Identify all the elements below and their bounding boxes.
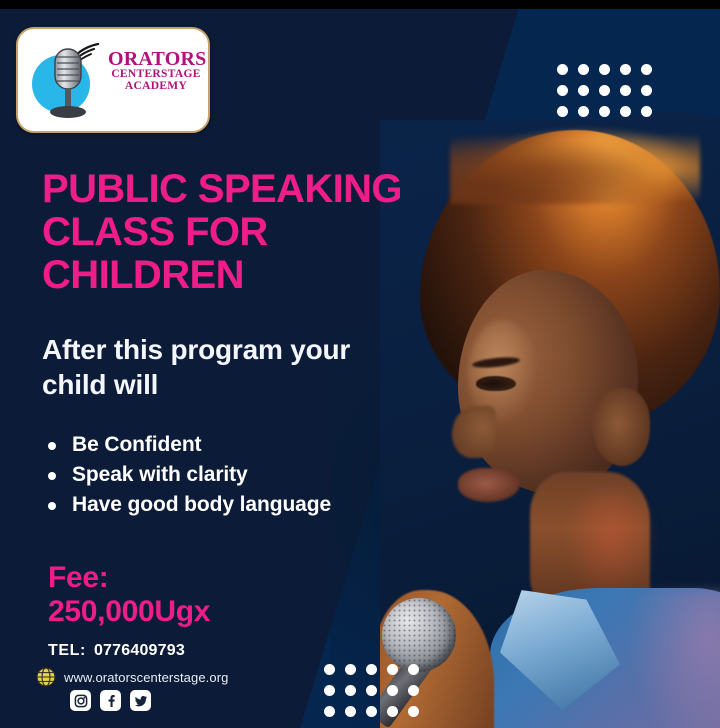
brand-logo-card[interactable]: ORATORS CENTERSTAGE ACADEMY [16,27,210,133]
headline-line-1: PUBLIC SPEAKING [42,168,442,211]
telephone-number[interactable]: 0776409793 [94,642,185,659]
retro-microphone-icon [28,35,106,125]
poster-canvas: ORATORS CENTERSTAGE ACADEMY PUBLIC SPEAK… [0,0,720,728]
brand-name-line1: ORATORS [108,49,204,69]
telephone-label: TEL: [48,642,86,659]
headline-line-2: CLASS FOR [42,211,442,254]
subheading-line-2: child will [42,368,442,403]
twitter-icon[interactable] [130,690,151,711]
subheading-line-1: After this program your [42,333,442,368]
benefits-list: Be Confident Speak with clarity Have goo… [42,430,382,521]
fee-label: Fee: [48,561,210,595]
globe-icon [36,667,56,687]
website-url[interactable]: www.oratorscenterstage.org [64,670,228,685]
fee-block: Fee: 250,000Ugx [48,561,210,628]
brand-name: ORATORS CENTERSTAGE ACADEMY [108,49,204,93]
website-row[interactable]: www.oratorscenterstage.org [36,667,228,687]
telephone-line[interactable]: TEL:0776409793 [48,642,185,660]
fee-amount: 250,000Ugx [48,595,210,629]
top-black-bar [0,0,720,9]
subheading: After this program your child will [42,333,442,402]
instagram-icon[interactable] [70,690,91,711]
brand-name-line3: ACADEMY [108,81,204,93]
facebook-icon[interactable] [100,690,121,711]
list-item: Have good body language [42,490,382,520]
social-links [70,690,151,711]
list-item: Be Confident [42,430,382,460]
headline-line-3: CHILDREN [42,254,442,297]
headline: PUBLIC SPEAKING CLASS FOR CHILDREN [42,168,442,298]
microphone-glyph [40,43,96,121]
list-item: Speak with clarity [42,460,382,490]
